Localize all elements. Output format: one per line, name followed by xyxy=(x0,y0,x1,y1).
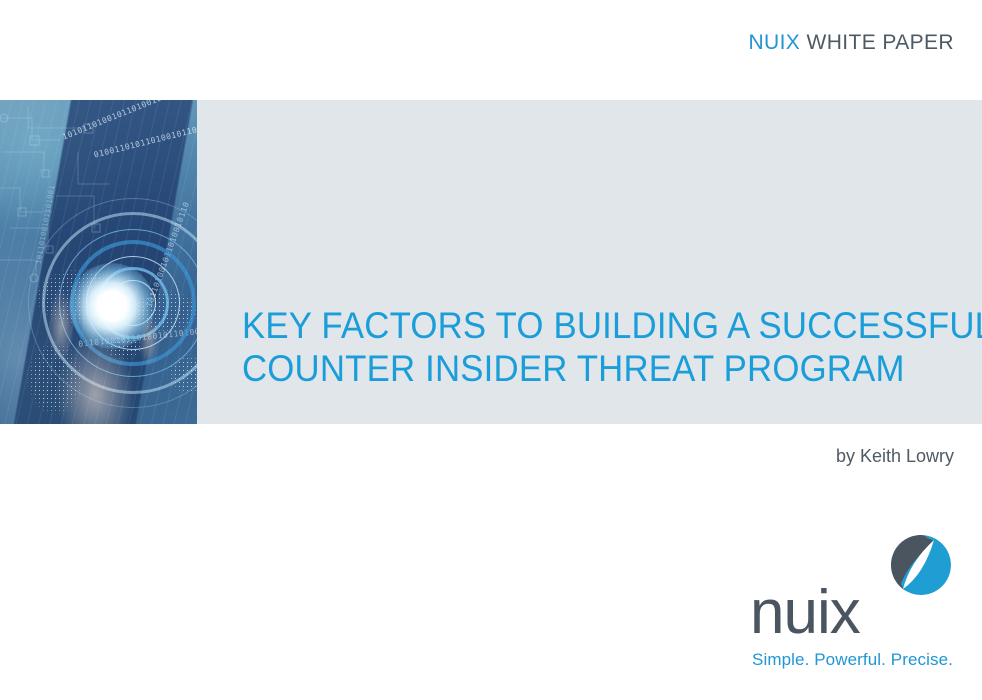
author-byline: by Keith Lowry xyxy=(836,446,954,467)
header-white-paper-label: NUIX WHITE PAPER xyxy=(748,31,954,55)
page-title-line-1: KEY FACTORS TO BUILDING A SUCCESSFUL xyxy=(242,304,900,347)
nuix-tagline: Simple. Powerful. Precise. xyxy=(752,650,953,670)
nuix-logo: nuix Simple. Powerful. Precise. xyxy=(742,528,960,678)
page-header: NUIX WHITE PAPER xyxy=(0,0,982,100)
header-brand-name: NUIX xyxy=(748,31,800,54)
header-doc-type: WHITE PAPER xyxy=(806,31,954,54)
nuix-wordmark: nuix xyxy=(750,582,860,644)
document-page: NUIX WHITE PAPER xyxy=(0,0,982,700)
hero-cyber-image: 1010110100101101001011010 01001101011010… xyxy=(0,100,197,424)
page-title-line-2: COUNTER INSIDER THREAT PROGRAM xyxy=(242,347,900,390)
page-title: KEY FACTORS TO BUILDING A SUCCESSFUL COU… xyxy=(242,304,942,390)
nuix-logo-mark-icon xyxy=(890,534,952,596)
hero-scanline-overlay xyxy=(0,100,197,424)
